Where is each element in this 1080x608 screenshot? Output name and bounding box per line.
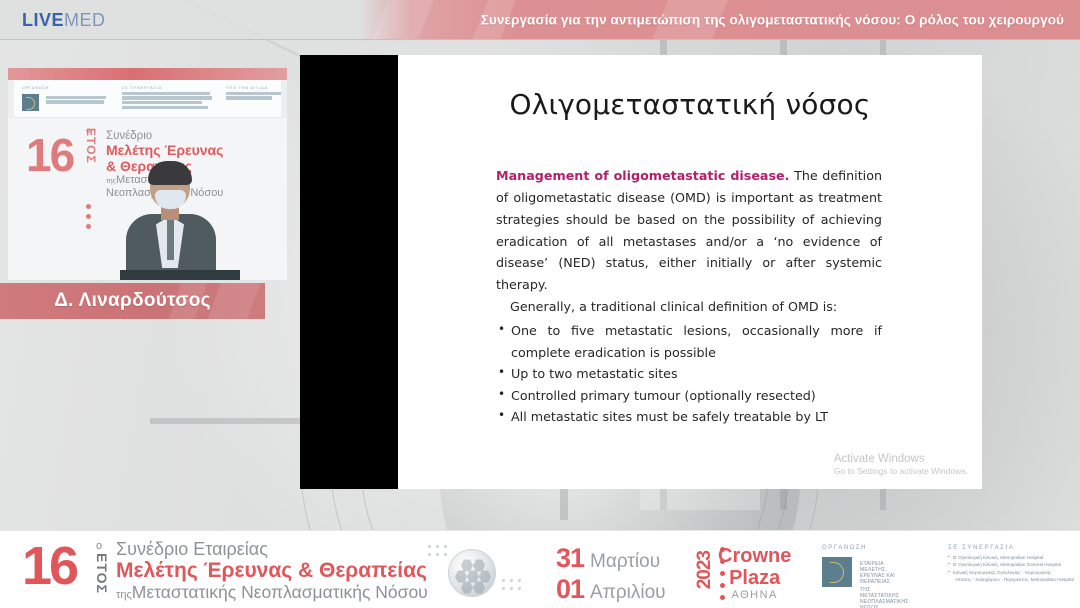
- footer-date-row-2: 01 Απριλίου: [556, 574, 666, 605]
- footer-line2: Μελέτης Έρευνας & Θεραπείας: [116, 559, 428, 583]
- speaker-video[interactable]: ΟΡΓΑΝΩΣΗ ΣΕ ΣΥΝΕΡΓΑΣΙΑ ΥΠΟ ΤΗΝ ΑΙΓΙΔΑ: [8, 68, 287, 280]
- backdrop-line: [122, 106, 208, 109]
- list-item: Up to two metastatic sites: [496, 363, 882, 385]
- footer-year: 2023: [694, 551, 716, 589]
- backdrop-line: [122, 92, 210, 95]
- backdrop-col3-head: ΥΠΟ ΤΗΝ ΑΙΓΙΔΑ: [226, 86, 268, 90]
- organiser-name-2: ΤΗΣ ΜΕΤΑΣΤΑΤΙΚΗΣ ΝΕΟΠΛΑΣΜΑΤΙΚΗΣ ΝΟΣΟΥ: [860, 587, 909, 608]
- footer-emblem: [418, 539, 538, 601]
- organiser-logo: [822, 557, 852, 587]
- list-item: Β' Ογκολογική Κλινική, Metropolitan Gene…: [948, 561, 1074, 568]
- speaker-tie: [167, 220, 174, 260]
- backdrop-line: [226, 92, 281, 95]
- venue-line-2: Plaza: [718, 567, 791, 589]
- congress-footer-banner: 16 ο ΕΤΟΣ Συνέδριο Εταιρείας Μελέτης Έρε…: [0, 530, 1080, 608]
- logo-med: MED: [64, 10, 106, 30]
- footer-congress-etos: ΕΤΟΣ: [94, 553, 110, 594]
- slide-title: Ολιγομεταστατική νόσος: [398, 88, 982, 121]
- footer-date2-number: 01: [556, 574, 584, 605]
- slide-paragraph-text: The definition of oligometastatic diseas…: [496, 168, 882, 292]
- watermark-title: Activate Windows: [834, 452, 968, 466]
- backdrop-line: [226, 96, 272, 99]
- list-item: Κλινική Χειρουργικής Ογκολογίας - Χειρου…: [948, 569, 1074, 576]
- backdrop-line: [46, 100, 104, 103]
- top-header-bar: LIVEMED Συνεργασία για την αντιμετώπιση …: [0, 0, 1080, 40]
- backdrop-org-logo: [22, 94, 39, 111]
- slide-body: Management of oligometastatic disease. T…: [496, 165, 882, 428]
- backdrop-banner: ΟΡΓΑΝΩΣΗ ΣΕ ΣΥΝΕΡΓΑΣΙΑ ΥΠΟ ΤΗΝ ΑΙΓΙΔΑ: [14, 80, 281, 118]
- backdrop-line: [46, 96, 106, 99]
- livemed-logo: LIVEMED: [22, 10, 106, 31]
- slide-lead: Management of oligometastatic disease.: [496, 168, 789, 183]
- speaker-podium: [120, 270, 240, 280]
- footer-line1: Συνέδριο Εταιρείας: [116, 539, 428, 559]
- backdrop-congress-line4-small: της: [106, 178, 116, 185]
- broadcast-screen: LIVEMED Συνεργασία για την αντιμετώπιση …: [0, 0, 1080, 608]
- slide-stage-letterbox: Ολιγομεταστατική νόσος Management of oli…: [300, 55, 982, 489]
- list-item: Ήπατος - Χοληφόρων - Παγκρέατος, Metropo…: [948, 576, 1074, 583]
- footer-dates: 31 Μαρτίου 01 Απριλίου 2023: [556, 543, 666, 605]
- speaker-name: Δ. Λιναρδούτσος: [54, 290, 211, 312]
- footer-line3: τηςΜεταστατικής Νεοπλασματικής Νόσου: [116, 583, 428, 603]
- backdrop-lower: 16 ο ΕΤΟΣ Συνέδριο Μελέτης Έρευνας & Θερ…: [8, 118, 287, 280]
- slide-bullet-list: One to five metastatic lesions, occasion…: [496, 320, 882, 428]
- cooperation-head: ΣΕ ΣΥΝΕΡΓΑΣΙΑ: [948, 545, 1074, 551]
- session-title-plate: Συνεργασία για την αντιμετώπιση της ολιγ…: [360, 0, 1080, 40]
- speaker-face-mask: [155, 190, 186, 209]
- list-item: One to five metastatic lesions, occasion…: [496, 320, 882, 363]
- footer-congress-degree: ο: [96, 540, 102, 552]
- backdrop-congress-line2: Μελέτης Έρευνας: [106, 143, 223, 159]
- footer-organiser: ΟΡΓΑΝΩΣΗ ΕΤΑΙΡΕΙΑ ΜΕΛΕΤΗΣ, ΕΡΕΥΝΑΣ ΚΑΙ Θ…: [822, 545, 867, 551]
- footer-congress-number: 16: [22, 539, 76, 593]
- session-title: Συνεργασία για την αντιμετώπιση της ολιγ…: [481, 13, 1064, 28]
- watermark-subtitle: Go to Settings to activate Windows.: [834, 466, 968, 477]
- footer-date-row-1: 31 Μαρτίου: [556, 543, 666, 574]
- list-item: All metastatic sites must be safely trea…: [496, 406, 882, 428]
- speaker-figure: [120, 164, 240, 280]
- organiser-name-1: ΕΤΑΙΡΕΙΑ ΜΕΛΕΤΗΣ, ΕΡΕΥΝΑΣ ΚΑΙ ΘΕΡΑΠΕΙΑΣ: [860, 561, 909, 585]
- footer-congress-text: Συνέδριο Εταιρείας Μελέτης Έρευνας & Θερ…: [116, 539, 428, 602]
- backdrop-dots: [86, 204, 91, 234]
- slide-paragraph-2: Generally, a traditional clinical defini…: [496, 296, 882, 318]
- footer-line3-small: της: [116, 589, 132, 601]
- venue-city: ΑΘΗΝΑ: [718, 589, 791, 601]
- organiser-head: ΟΡΓΑΝΩΣΗ: [822, 545, 867, 551]
- video-backdrop: ΟΡΓΑΝΩΣΗ ΣΕ ΣΥΝΕΡΓΑΣΙΑ ΥΠΟ ΤΗΝ ΑΙΓΙΔΑ: [8, 68, 287, 280]
- emblem-sphere: [448, 549, 496, 597]
- footer-venue: Crowne Plaza ΑΘΗΝΑ: [718, 545, 791, 601]
- footer-date2-month: Απριλίου: [590, 582, 666, 604]
- footer-line3-main: Μεταστατικής Νεοπλασματικής Νόσου: [132, 582, 428, 602]
- backdrop-line: [122, 101, 202, 104]
- backdrop-congress-line1: Συνέδριο: [106, 130, 223, 143]
- organiser-names: ΕΤΑΙΡΕΙΑ ΜΕΛΕΤΗΣ, ΕΡΕΥΝΑΣ ΚΑΙ ΘΕΡΑΠΕΙΑΣ …: [860, 561, 909, 608]
- backdrop-col2-head: ΣΕ ΣΥΝΕΡΓΑΣΙΑ: [122, 86, 162, 90]
- backdrop-top-strip: [8, 68, 287, 80]
- cooperation-list: Β' Ογκολογική Κλινική, Metropolitan Hosp…: [948, 554, 1074, 584]
- footer-cooperation: ΣΕ ΣΥΝΕΡΓΑΣΙΑ Β' Ογκολογική Κλινική, Met…: [948, 545, 1074, 584]
- presentation-slide[interactable]: Ολιγομεταστατική νόσος Management of oli…: [398, 55, 982, 489]
- backdrop-col1-head: ΟΡΓΑΝΩΣΗ: [22, 86, 49, 90]
- speaker-hair: [148, 161, 192, 185]
- activate-windows-watermark: Activate Windows Go to Settings to activ…: [834, 452, 968, 477]
- footer-date1-month: Μαρτίου: [590, 551, 660, 573]
- speaker-name-banner: Δ. Λιναρδούτσος: [0, 283, 265, 319]
- slide-paragraph: Management of oligometastatic disease. T…: [496, 165, 882, 296]
- logo-live: LIVE: [22, 10, 64, 30]
- backdrop-line: [122, 96, 212, 99]
- list-item: Β' Ογκολογική Κλινική, Metropolitan Hosp…: [948, 554, 1074, 561]
- footer-date1-number: 31: [556, 543, 584, 574]
- plate-shard-1: [368, 0, 438, 40]
- name-shard-2: [203, 283, 265, 319]
- list-item: Controlled primary tumour (optionally re…: [496, 385, 882, 407]
- backdrop-congress-number: 16: [26, 132, 73, 178]
- slide-paragraph2-text: Generally, a traditional clinical defini…: [510, 299, 837, 314]
- backdrop-congress-etos: ΕΤΟΣ: [84, 128, 98, 164]
- venue-line-1: Crowne: [718, 545, 791, 567]
